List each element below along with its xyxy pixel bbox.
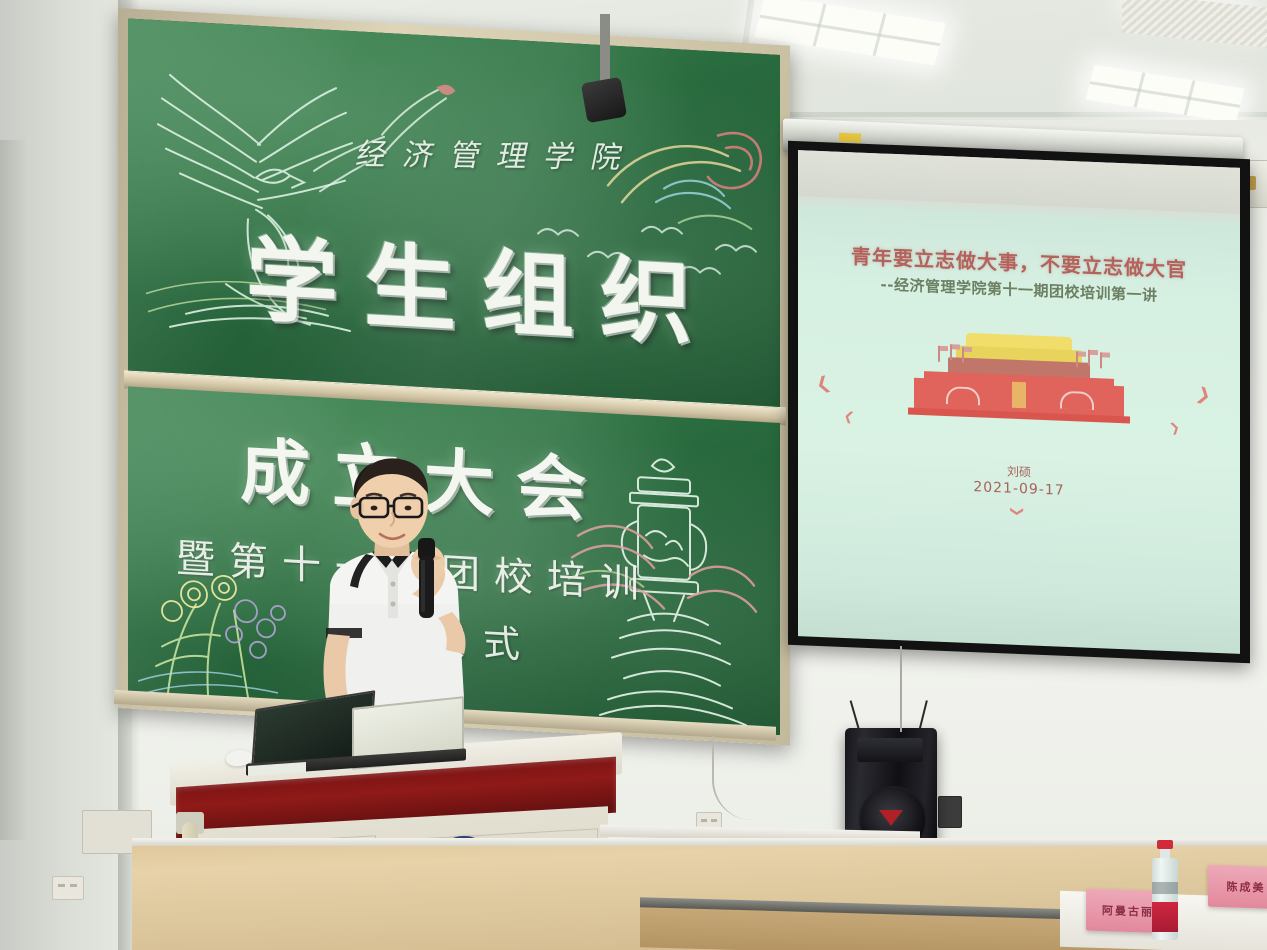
- chalkboard-upper-panel: 经济管理学院 学生组织: [128, 19, 780, 407]
- projection-screen-surface: 青年要立志做大事，不要立志做大官 --经济管理学院第十一期团校培训第一讲: [798, 150, 1240, 654]
- bottle-label: [1152, 902, 1178, 932]
- speaker-control-panel[interactable]: [857, 738, 923, 762]
- slide-content: 青年要立志做大事，不要立志做大官 --经济管理学院第十一期团校培训第一讲: [798, 196, 1240, 654]
- dove-icon: ❮: [814, 374, 833, 394]
- bottle-cap: [1157, 840, 1173, 849]
- screen-warning-label: [839, 133, 861, 143]
- name-card-label: 陈成美: [1227, 878, 1266, 895]
- dove-icon: ❮: [1009, 506, 1022, 517]
- tiananmen-illustration: [904, 322, 1134, 451]
- water-bottle: [1152, 840, 1178, 940]
- door-frame[interactable]: [0, 140, 26, 840]
- chalkboard-header: 经济管理学院: [353, 129, 637, 177]
- projection-screen-frame: 青年要立志做大事，不要立志做大官 --经济管理学院第十一期团校培训第一讲: [788, 141, 1250, 664]
- name-card-label: 阿曼古丽: [1102, 902, 1154, 920]
- name-card: 陈成美: [1208, 865, 1267, 910]
- dove-icon: ❮: [1169, 422, 1182, 436]
- speaker-cable: [712, 736, 844, 820]
- classroom-scene: 经济管理学院 学生组织: [0, 0, 1267, 950]
- chalkboard-title-line1: 学生组织: [246, 205, 718, 364]
- wall-outlet[interactable]: [938, 796, 962, 828]
- projector-mount: [600, 14, 610, 88]
- speaker-brand-badge: [879, 810, 903, 826]
- wall-outlet[interactable]: [52, 876, 84, 900]
- dove-icon: ❮: [1194, 387, 1212, 408]
- ceiling-projector: [581, 77, 627, 123]
- dove-icon: ❮: [843, 409, 856, 423]
